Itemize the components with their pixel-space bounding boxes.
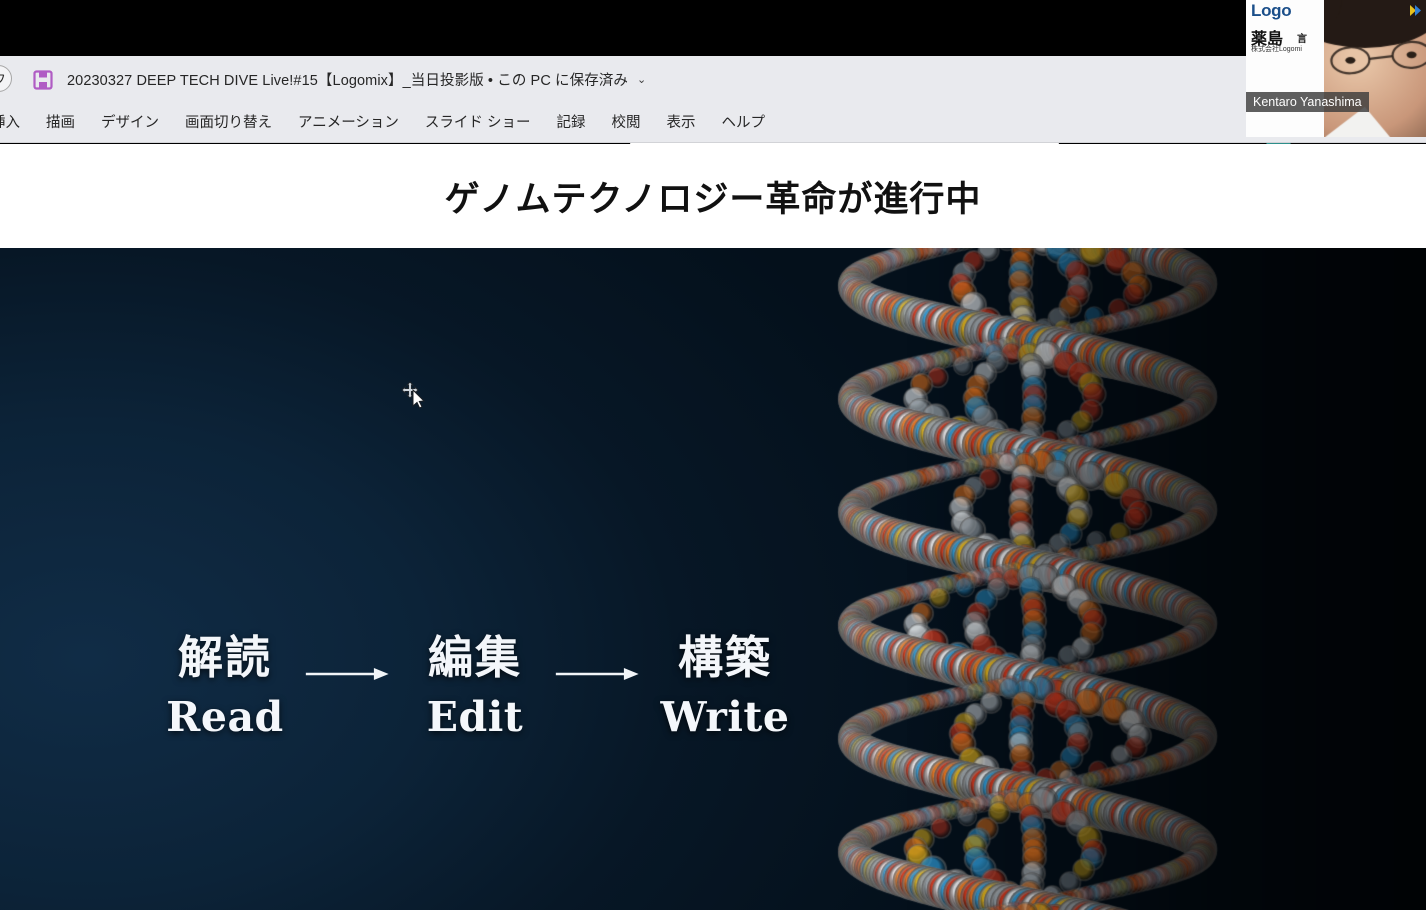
- dna-helix-image: [770, 248, 1330, 910]
- tab-design[interactable]: デザイン: [88, 103, 172, 143]
- tab-slideshow[interactable]: スライド ショー: [412, 103, 544, 143]
- powerpoint-window: オフ 20230327 DEEP TECH DIVE Live!#15【Logo…: [0, 0, 1426, 910]
- presenter-company: 株式会社Logomi: [1251, 44, 1302, 54]
- tab-animations[interactable]: アニメーション: [285, 103, 412, 143]
- slide-title[interactable]: ゲノムテクノロジー革命が進行中: [445, 171, 982, 222]
- tab-review[interactable]: 校閲: [598, 103, 653, 143]
- flow-item-write-en: Write: [661, 693, 790, 741]
- tab-view[interactable]: 表示: [653, 103, 708, 143]
- flow-item-edit-en: Edit: [427, 693, 523, 741]
- flow-item-edit[interactable]: 編集 Edit: [400, 634, 550, 741]
- slide-body: 解読 Read 編集 Edit: [0, 248, 1426, 910]
- read-edit-write-flow[interactable]: 解読 Read 編集 Edit: [150, 634, 800, 741]
- tab-record[interactable]: 記録: [543, 103, 598, 143]
- presenter-tooltip: Kentaro Yanashima: [1246, 92, 1369, 112]
- ribbon-tab-bar: 挿入 描画 デザイン 画面切り替え アニメーション スライド ショー 記録 校閲…: [0, 103, 1426, 143]
- flow-item-read[interactable]: 解読 Read: [150, 634, 300, 741]
- flow-item-write-jp: 構築: [678, 634, 772, 681]
- slide-title-band: ゲノムテクノロジー革命が進行中: [0, 144, 1426, 248]
- ribbon-tabs: 挿入 描画 デザイン 画面切り替え アニメーション スライド ショー 記録 校閲…: [0, 103, 778, 143]
- document-title-text: 20230327 DEEP TECH DIVE Live!#15【Logomix…: [67, 69, 628, 90]
- autosave-label: オフ: [0, 69, 6, 88]
- presenter-name-card: Logo 薬島 言 株式会社Logomi: [1246, 0, 1324, 137]
- flow-item-read-en: Read: [166, 693, 283, 741]
- document-title[interactable]: 20230327 DEEP TECH DIVE Live!#15【Logomix…: [67, 56, 646, 103]
- chevron-down-icon[interactable]: ⌄: [637, 73, 646, 86]
- flow-item-read-jp: 解読: [178, 634, 272, 681]
- save-disk-icon[interactable]: [33, 70, 53, 90]
- screen-share-top-bar: [0, 0, 1426, 56]
- logomix-logo: Logo: [1251, 1, 1291, 21]
- webcam-overlay[interactable]: Logo 薬島 言 株式会社Logomi Kentaro Yanashima: [1246, 0, 1426, 137]
- arrow-icon-1: [300, 650, 400, 698]
- tab-help[interactable]: ヘルプ: [708, 103, 778, 143]
- arrow-icon-2: [550, 650, 650, 698]
- flow-item-edit-jp: 編集: [428, 634, 522, 681]
- tab-insert[interactable]: 挿入: [0, 103, 33, 143]
- slide-canvas[interactable]: ゲノムテクノロジー革命が進行中 解読 Read 編集 Edi: [0, 144, 1426, 910]
- title-bar: オフ 20230327 DEEP TECH DIVE Live!#15【Logo…: [0, 56, 1426, 103]
- autosave-toggle[interactable]: オフ: [0, 65, 12, 92]
- presenter-role: 言: [1297, 30, 1307, 45]
- video-badge-icon: [1409, 4, 1422, 17]
- tab-draw[interactable]: 描画: [33, 103, 88, 143]
- tab-transitions[interactable]: 画面切り替え: [172, 103, 285, 143]
- flow-item-write[interactable]: 構築 Write: [650, 634, 800, 741]
